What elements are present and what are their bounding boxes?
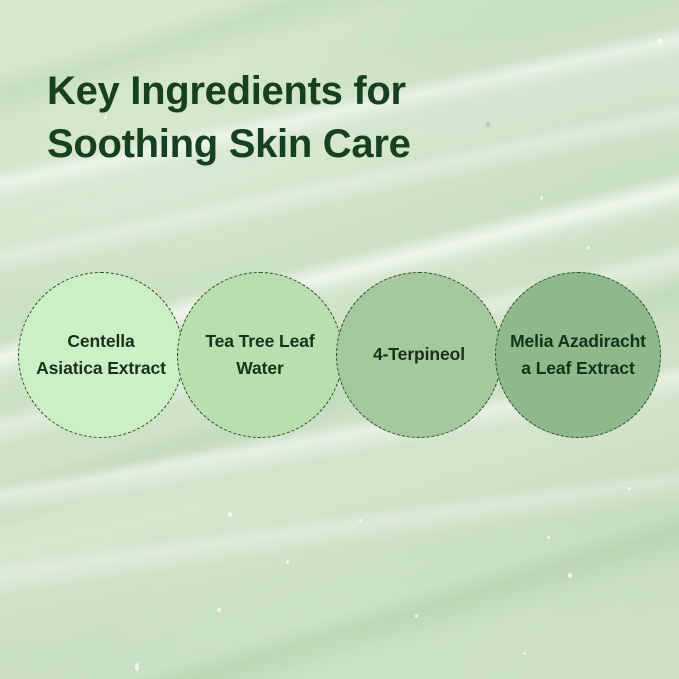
- ingredient-label: 4-Terpineol: [359, 341, 479, 368]
- ingredient-circle-row: Centella Asiatica Extract Tea Tree Leaf …: [0, 272, 679, 442]
- ingredient-label: Centella Asiatica Extract: [19, 328, 183, 382]
- ingredient-label: Melia Azadiracht a Leaf Extract: [496, 328, 660, 382]
- ingredient-label: Tea Tree Leaf Water: [178, 328, 342, 382]
- ingredient-circle-4-terpineol[interactable]: 4-Terpineol: [336, 272, 502, 438]
- infographic-canvas: Key Ingredients for Soothing Skin Care C…: [0, 0, 679, 679]
- ingredient-circle-melia-azadirachta-leaf-extract[interactable]: Melia Azadiracht a Leaf Extract: [495, 272, 661, 438]
- ingredient-circle-centella-asiatica-extract[interactable]: Centella Asiatica Extract: [18, 272, 184, 438]
- page-title: Key Ingredients for Soothing Skin Care: [47, 65, 527, 171]
- ingredient-circle-tea-tree-leaf-water[interactable]: Tea Tree Leaf Water: [177, 272, 343, 438]
